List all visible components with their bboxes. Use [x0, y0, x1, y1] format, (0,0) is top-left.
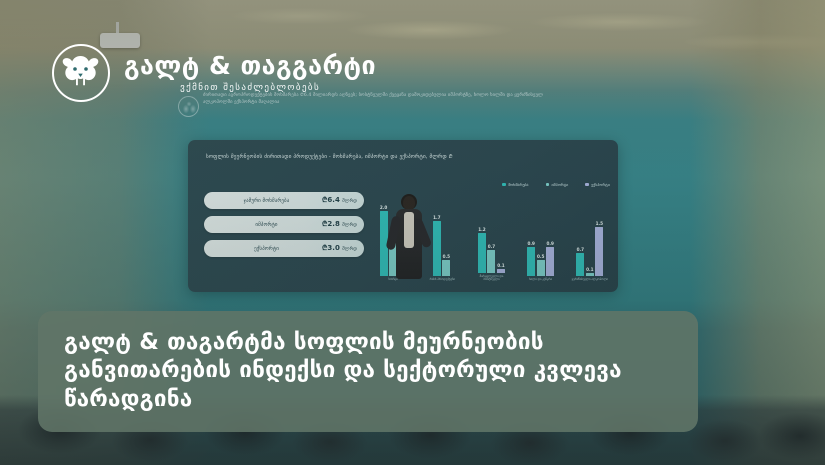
- bar-wrapper: 0.9: [527, 204, 535, 276]
- list-item: ჯამური მოხმარება ₾6.4 მლრდ: [204, 192, 364, 209]
- bar: [576, 253, 584, 276]
- pill-label: იმპორტი: [211, 222, 322, 228]
- bar: [497, 269, 505, 272]
- bar: [478, 233, 486, 272]
- list-item: ექსპორტი ₾3.0 მლრდ: [204, 240, 364, 257]
- pill-value: ₾2.8 მლრდ: [322, 220, 357, 229]
- list-item: იმპორტი ₾2.8 მლრდ: [204, 216, 364, 233]
- bar: [442, 260, 450, 276]
- bar-wrapper: 0.1: [497, 201, 505, 273]
- legend-item: მოხმარება: [502, 182, 528, 187]
- chart-legend: მოხმარება იმპორტი ექსპორტი: [502, 182, 610, 187]
- brand-tagline: ვქმნით შესაძლებლობებს: [124, 83, 376, 93]
- legend-swatch: [546, 183, 550, 187]
- x-axis-label: მარცვლეული და ბოსტნეული: [471, 275, 511, 282]
- bar-value-label: 0.5: [537, 254, 544, 259]
- bar-group: 0.90.50.9ხილი და კენკრა: [521, 204, 561, 282]
- page-title: გალტ & თაგარტმა სოფლის მეურნეობის განვით…: [64, 328, 672, 413]
- pill-label: ჯამური მოხმარება: [211, 198, 322, 204]
- bar-value-label: 0.1: [497, 263, 504, 268]
- presenter-silhouette: [392, 196, 426, 292]
- x-axis-label: ხილი და კენკრა: [521, 278, 561, 282]
- brand-lockup: გალტ & თაგგარტი ვქმნით შესაძლებლობებს: [52, 44, 376, 102]
- bar-value-label: 0.7: [577, 247, 584, 252]
- bar: [595, 227, 603, 276]
- pill-label: ექსპორტი: [211, 246, 322, 252]
- bar: [586, 273, 594, 276]
- bar-value-label: 0.1: [586, 267, 593, 272]
- bar-wrapper: 1.5: [595, 204, 603, 276]
- x-axis-label: რძის პროდუქტები: [422, 278, 462, 282]
- headline-banner: გალტ & თაგარტმა სოფლის მეურნეობის განვით…: [38, 311, 698, 432]
- x-axis-label: ყურძნისეული ალკოჰოლი: [570, 278, 610, 282]
- legend-label: ექსპორტი: [591, 182, 610, 187]
- bar-wrapper: 0.5: [442, 204, 450, 276]
- bar-wrapper: 0.7: [487, 201, 495, 273]
- legend-item: ექსპორტი: [585, 182, 610, 187]
- bar: [433, 221, 441, 277]
- bar-value-label: 1.7: [433, 215, 440, 220]
- bar-value-label: 0.9: [546, 241, 553, 246]
- bar: [537, 260, 545, 276]
- bar-value-label: 2.0: [380, 205, 387, 210]
- legend-swatch: [502, 183, 506, 187]
- bar-wrapper: 0.7: [576, 204, 584, 276]
- summary-pill-list: ჯამური მოხმარება ₾6.4 მლრდ იმპორტი ₾2.8 …: [204, 192, 364, 264]
- bar-wrapper: 0.5: [537, 204, 545, 276]
- bar-value-label: 1.5: [596, 221, 603, 226]
- bar-value-label: 1.2: [478, 227, 485, 232]
- legend-item: იმპორტი: [546, 182, 569, 187]
- bar-value-label: 0.9: [527, 241, 534, 246]
- bar: [487, 250, 495, 273]
- legend-swatch: [585, 183, 589, 187]
- bar: [527, 247, 535, 276]
- bar-value-label: 0.5: [443, 254, 450, 259]
- bar-wrapper: 1.2: [478, 201, 486, 273]
- chart-title: სოფლის მეურნეობის ძირითადი პროდუქტები - …: [206, 154, 608, 161]
- pill-value: ₾6.4 მლრდ: [322, 196, 357, 205]
- bar-wrapper: 0.1: [586, 204, 594, 276]
- bar-wrapper: 0.9: [546, 204, 554, 276]
- bar: [546, 247, 554, 276]
- bar-value-label: 0.7: [488, 244, 495, 249]
- legend-label: მოხმარება: [508, 182, 528, 187]
- brand-name: გალტ & თაგგარტი: [124, 53, 376, 78]
- bar-group: 1.20.70.1მარცვლეული და ბოსტნეული: [471, 201, 511, 282]
- bar-wrapper: 1.7: [433, 204, 441, 276]
- legend-label: იმპორტი: [552, 182, 569, 187]
- bar-group: 0.70.11.5ყურძნისეული ალკოჰოლი: [570, 204, 610, 282]
- ram-head-circle-logo-icon: [52, 44, 110, 102]
- pill-value: ₾3.0 მლრდ: [322, 244, 357, 253]
